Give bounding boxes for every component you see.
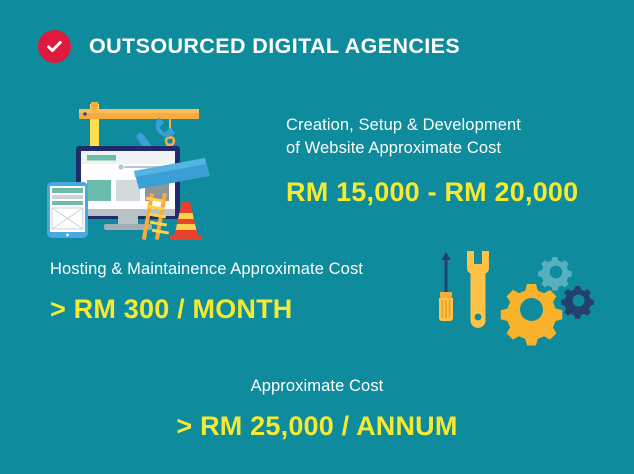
section-total: Approximate Cost > RM 25,000 / ANNUM	[0, 375, 634, 442]
gear-small-teal-icon	[538, 257, 572, 291]
section-creation: Creation, Setup & Development of Website…	[286, 114, 626, 208]
gear-small-navy-icon	[561, 286, 594, 319]
screwdriver-icon	[439, 252, 453, 321]
page-title: OUTSOURCED DIGITAL AGENCIES	[89, 34, 460, 59]
creation-caption-line1: Creation, Setup & Development	[286, 116, 521, 134]
hosting-caption: Hosting & Maintainence Approximate Cost	[50, 258, 450, 281]
creation-caption-line2: of Website Approximate Cost	[286, 139, 501, 157]
header: OUTSOURCED DIGITAL AGENCIES	[38, 30, 460, 63]
check-circle-icon	[38, 30, 71, 63]
total-amount: > RM 25,000 / ANNUM	[0, 411, 634, 442]
hosting-amount: > RM 300 / MONTH	[50, 294, 450, 325]
gear-large-yellow-icon	[501, 284, 563, 346]
tablet-device	[47, 182, 88, 238]
wrench-icon	[467, 251, 489, 328]
website-under-construction-illustration	[46, 96, 266, 242]
creation-caption: Creation, Setup & Development of Website…	[286, 114, 626, 161]
total-caption: Approximate Cost	[0, 375, 634, 398]
section-hosting: Hosting & Maintainence Approximate Cost …	[50, 258, 450, 325]
creation-amount: RM 15,000 - RM 20,000	[286, 177, 626, 208]
infographic-slide: OUTSOURCED DIGITAL AGENCIES	[0, 0, 634, 474]
tools-and-gears-illustration	[436, 248, 601, 348]
